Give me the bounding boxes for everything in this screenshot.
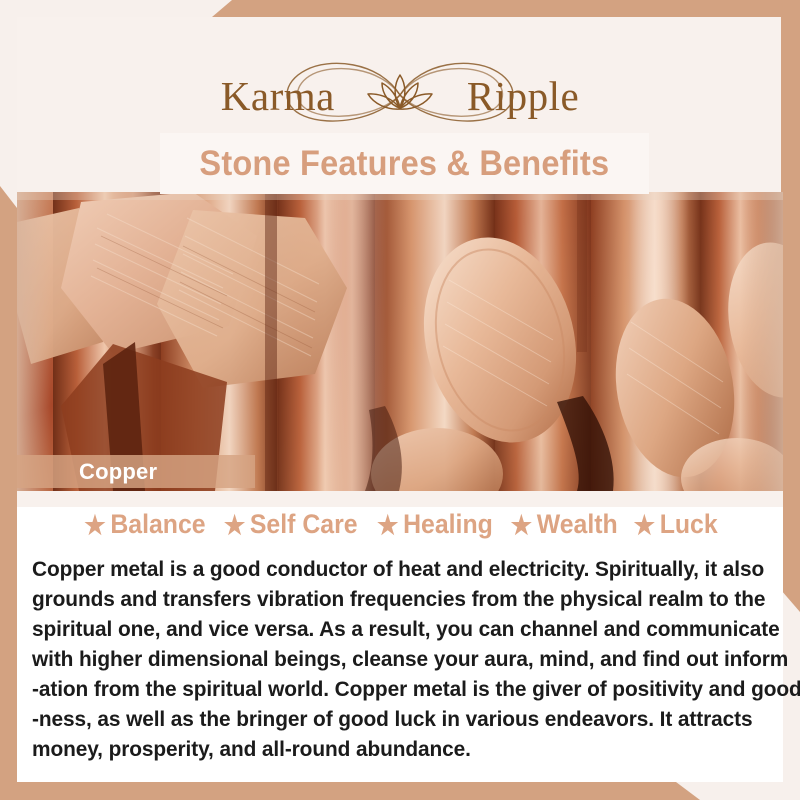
star-icon: ★ [634,512,655,538]
star-icon: ★ [377,512,398,538]
page-title: Stone Features & Benefits [200,144,610,184]
star-icon: ★ [510,512,531,538]
benefit-label: Self Care [250,509,358,540]
content-panel: ★ Balance ★ Self Care ★ Healing ★ Wealth… [17,491,783,782]
description-line: -ation from the spiritual world. Copper … [32,674,752,704]
benefit-label: Balance [110,509,205,540]
copper-rods-photo [17,192,783,491]
description-line: grounds and transfers vibration frequenc… [32,584,752,614]
benefit-item-healing: ★ Healing [377,509,493,540]
benefit-item-luck: ★ Luck [634,509,718,540]
poster-root: Karma Ripple Stone Features & Benefits [0,0,800,800]
hero-caption-bar: Copper [17,455,255,488]
hero-image [17,192,783,491]
benefit-label: Healing [403,509,493,540]
hero-caption-label: Copper [17,459,157,485]
star-icon: ★ [224,512,245,538]
frame-left-bar [0,186,17,800]
benefit-item-self-care: ★ Self Care [224,509,358,540]
description-line: spiritual one, and vice versa. As a resu… [32,614,752,644]
description-text: Copper metal is a good conductor of heat… [32,554,774,764]
description-line: Copper metal is a good conductor of heat… [32,554,752,584]
title-banner: Stone Features & Benefits [160,133,649,194]
benefit-label: Luck [660,509,718,540]
benefits-row: ★ Balance ★ Self Care ★ Healing ★ Wealth… [17,509,783,540]
benefit-item-wealth: ★ Wealth [510,509,617,540]
description-line: -ness, as well as the bringer of good lu… [32,704,752,734]
brand-name-right: Ripple [467,72,579,120]
content-top-wash [17,491,783,507]
benefit-label: Wealth [536,509,617,540]
brand-name-left: Karma [221,72,335,120]
description-line: money, prosperity, and all-round abundan… [32,734,752,764]
description-line: with higher dimensional beings, cleanse … [32,644,752,674]
benefit-item-balance: ★ Balance [84,509,205,540]
frame-bottom-bar [0,782,700,800]
star-icon: ★ [84,512,105,538]
